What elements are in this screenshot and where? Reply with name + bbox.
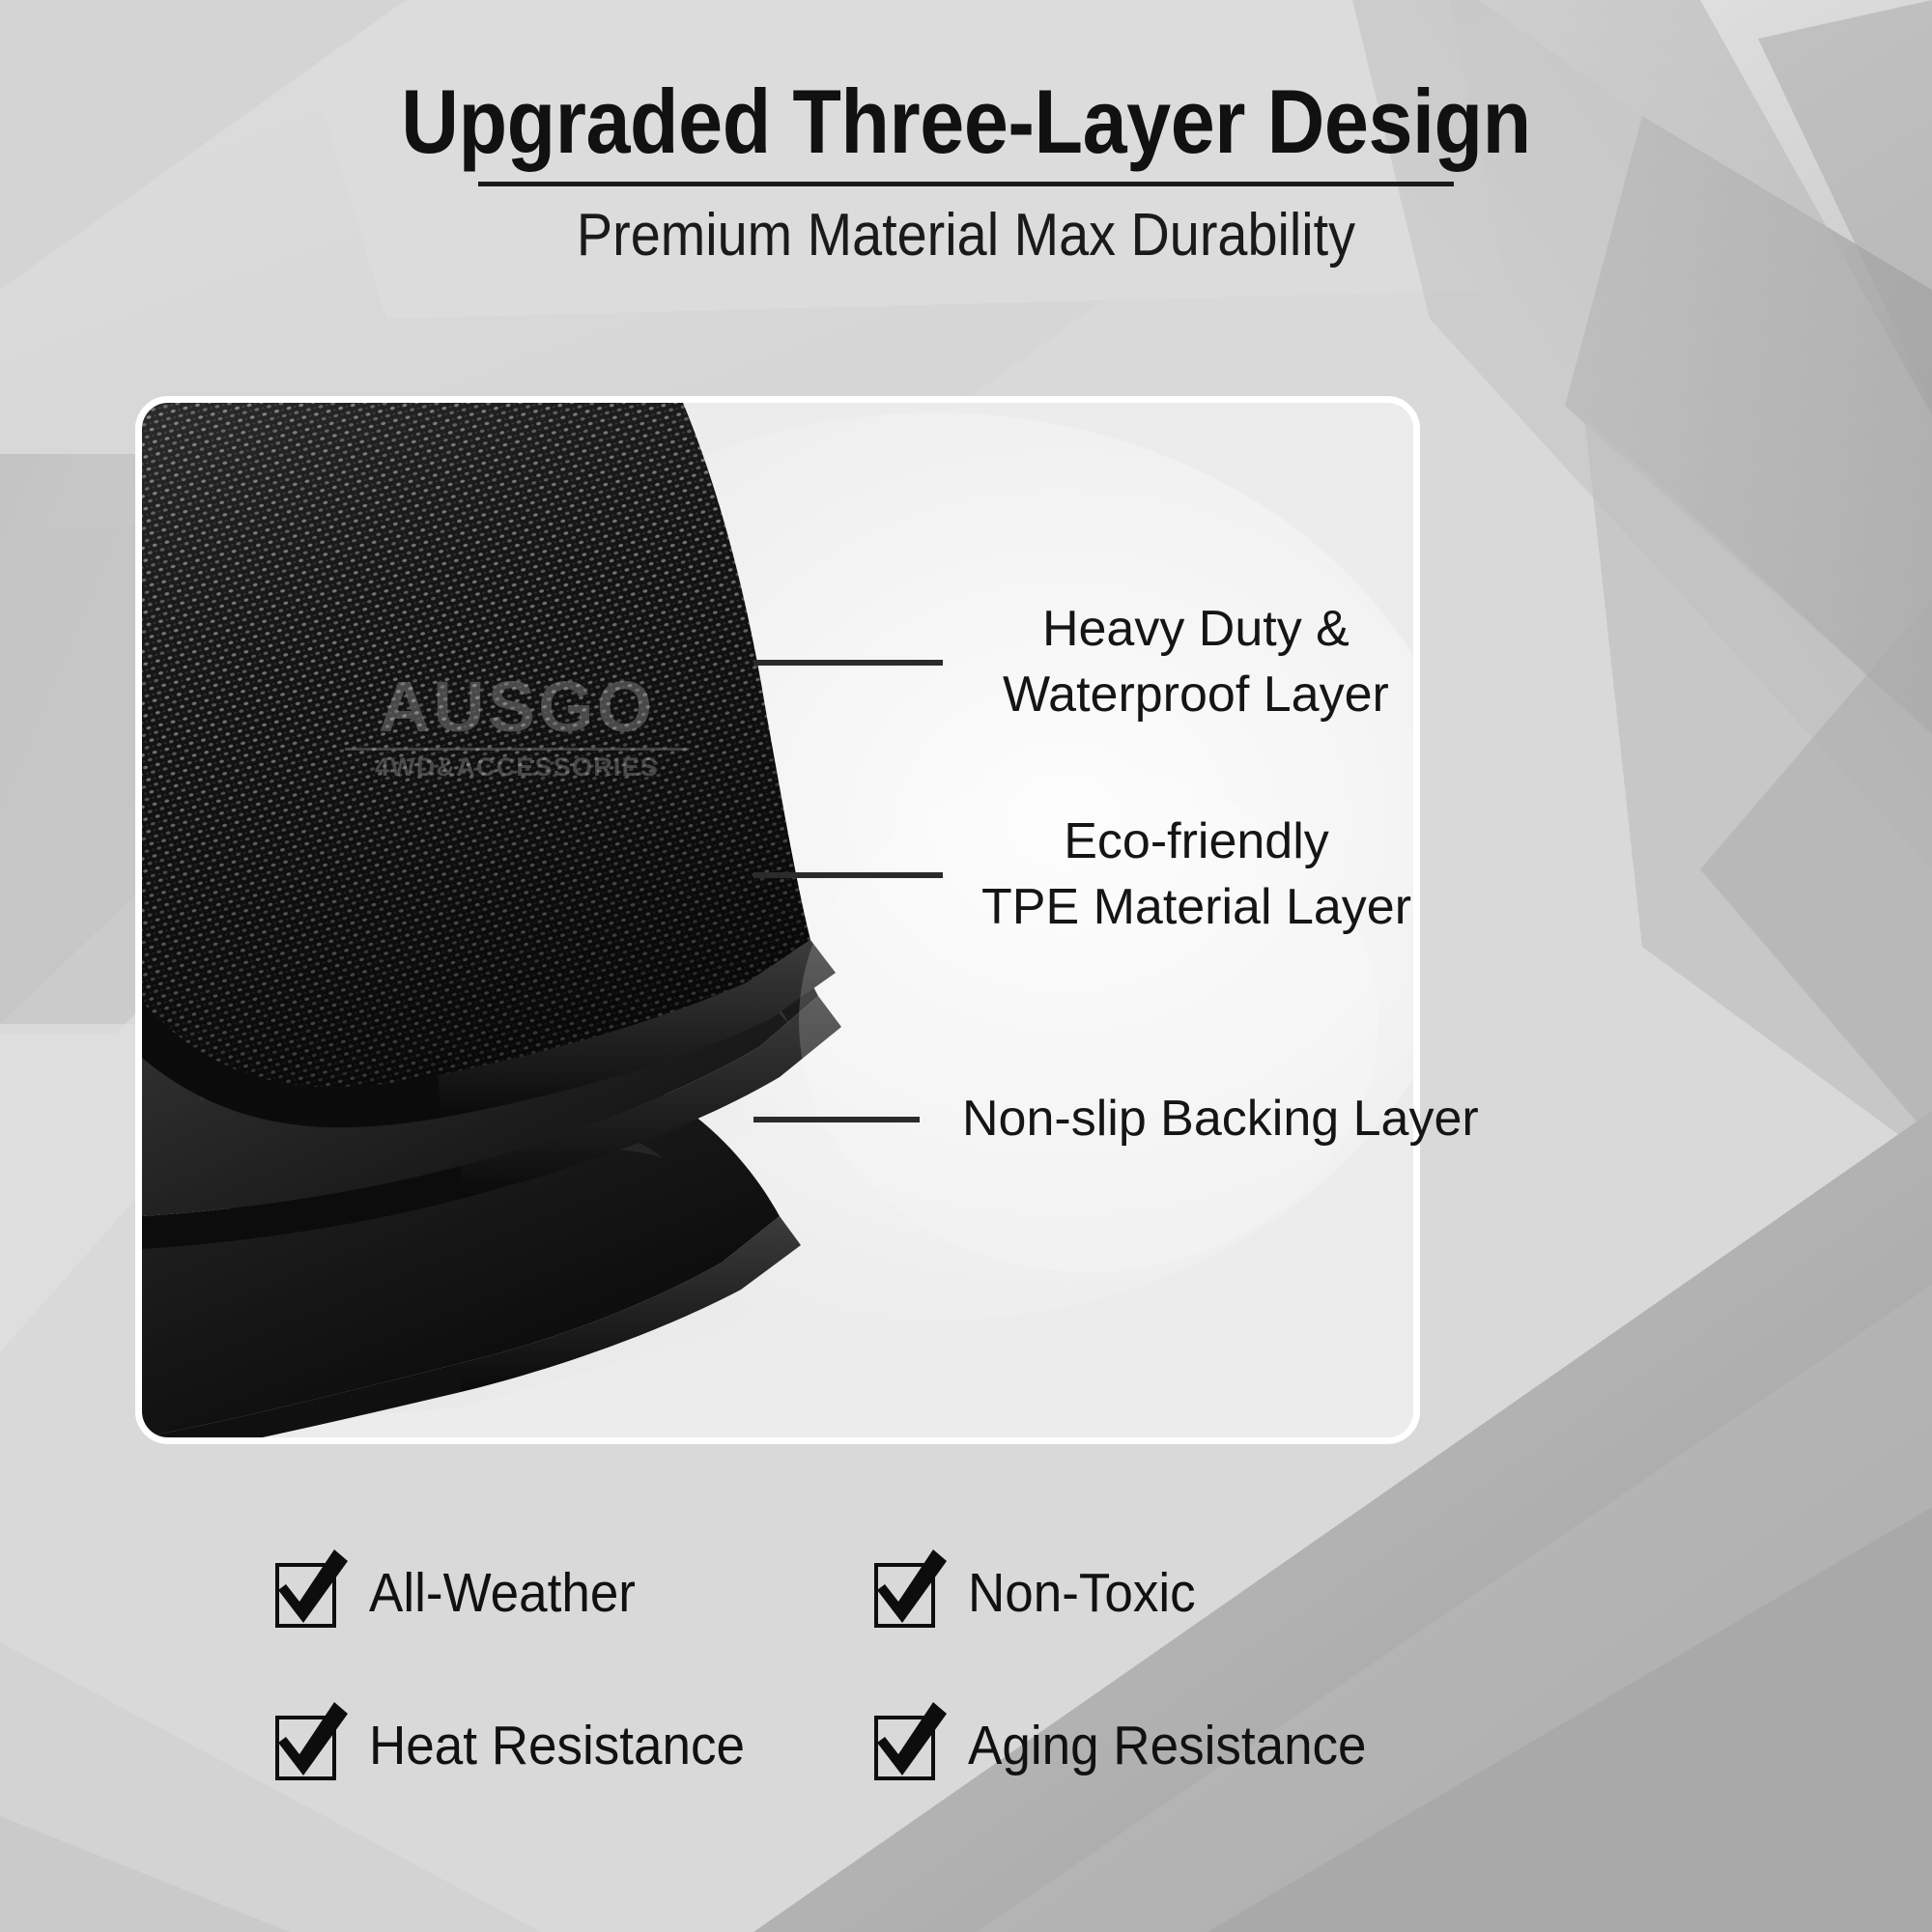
checkmark-icon: [270, 1557, 342, 1629]
callout-label: Non-slip Backing Layer: [962, 1087, 1479, 1152]
callout-line-1: Non-slip Backing Layer: [962, 1087, 1479, 1152]
feature-label: Non-Toxic: [968, 1561, 1196, 1625]
callout-label: Heavy Duty & Waterproof Layer: [1003, 597, 1389, 727]
callout-line-2: Waterproof Layer: [1003, 663, 1389, 728]
callout-eco-friendly-tpe-material-layer: Eco-friendly TPE Material Layer: [753, 810, 1816, 940]
leader-line: [753, 1117, 920, 1122]
callout-line-1: Eco-friendly: [981, 810, 1411, 875]
feature-label: All-Weather: [369, 1561, 636, 1625]
feature-aging-resistance: Aging Resistance: [869, 1669, 1459, 1822]
callout-non-slip-backing-layer: Non-slip Backing Layer: [753, 1087, 1835, 1152]
header: Upgraded Three-Layer Design Premium Mate…: [0, 0, 1932, 267]
callout-heavy-duty-waterproof-layer: Heavy Duty & Waterproof Layer: [753, 597, 1816, 727]
feature-label: Aging Resistance: [968, 1714, 1367, 1777]
feature-heat-resistance: Heat Resistance: [270, 1669, 860, 1822]
checkmark-icon: [270, 1710, 342, 1781]
checkmark-icon: [869, 1710, 941, 1781]
feature-label: Heat Resistance: [369, 1714, 745, 1777]
page-title: Upgraded Three-Layer Design: [116, 0, 1816, 168]
callout-line-1: Heavy Duty &: [1003, 597, 1389, 663]
page-subtitle: Premium Material Max Durability: [97, 186, 1835, 267]
callout-line-2: TPE Material Layer: [981, 875, 1411, 941]
feature-all-weather: All-Weather: [270, 1517, 860, 1669]
leader-line: [753, 660, 943, 666]
feature-checklist: All-Weather Non-Toxic Heat Resistance Ag…: [270, 1517, 1681, 1822]
checkmark-icon: [869, 1557, 941, 1629]
leader-line: [753, 872, 943, 878]
callout-label: Eco-friendly TPE Material Layer: [981, 810, 1411, 940]
feature-non-toxic: Non-Toxic: [869, 1517, 1459, 1669]
